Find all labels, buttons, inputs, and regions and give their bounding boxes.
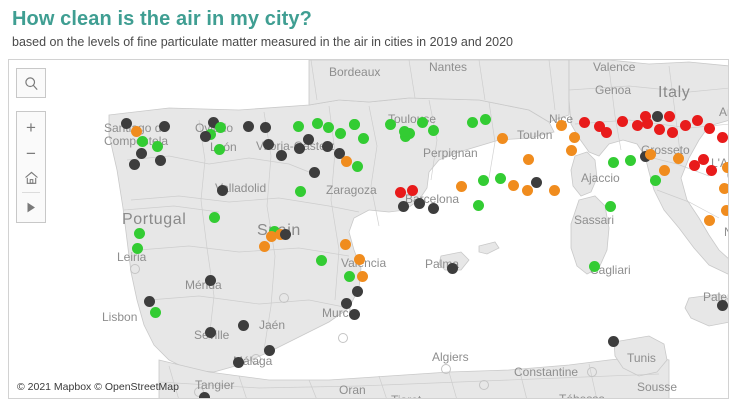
page-header: How clean is the air in my city? based o… [0,0,737,51]
map-data-point[interactable] [159,121,170,132]
map-data-point[interactable] [654,124,665,135]
zoom-in-button[interactable]: + [17,114,45,140]
map-data-point[interactable] [349,119,360,130]
map-data-point[interactable] [417,117,428,128]
map-data-point[interactable] [632,120,643,131]
map-data-point[interactable] [243,121,254,132]
map-data-point[interactable] [238,320,249,331]
map-data-point[interactable] [316,255,327,266]
map-data-point[interactable] [280,229,291,240]
map-data-point[interactable] [134,228,145,239]
map-data-point[interactable] [340,239,351,250]
map-data-point[interactable] [144,296,155,307]
map-data-point[interactable] [652,111,663,122]
map-data-point[interactable] [608,157,619,168]
map-data-point[interactable] [680,120,691,131]
map-data-point[interactable] [155,155,166,166]
map-data-point[interactable] [722,162,730,173]
map-data-point[interactable] [132,243,143,254]
map-data-point[interactable] [522,185,533,196]
map-city-marker [279,293,289,303]
page-title: How clean is the air in my city? [12,6,737,32]
map-data-point[interactable] [263,139,274,150]
map-data-point[interactable] [704,215,715,226]
map-data-point[interactable] [673,153,684,164]
map-data-point[interactable] [209,212,220,223]
map-data-point[interactable] [341,156,352,167]
map-data-point[interactable] [579,117,590,128]
map-data-point[interactable] [136,148,147,159]
map-data-point[interactable] [549,185,560,196]
map-data-point[interactable] [608,336,619,347]
map-data-point[interactable] [260,122,271,133]
home-icon [24,171,39,185]
map-data-point[interactable] [721,205,730,216]
map-search-button[interactable] [16,68,46,98]
map-data-point[interactable] [617,116,628,127]
map-data-point[interactable] [399,126,410,137]
map-data-point[interactable] [322,141,333,152]
map-data-point[interactable] [531,177,542,188]
map-data-point[interactable] [667,127,678,138]
map-data-point[interactable] [556,120,567,131]
map-data-point[interactable] [341,298,352,309]
map-data-point[interactable] [259,241,270,252]
map-data-point[interactable] [467,117,478,128]
map-data-point[interactable] [698,154,709,165]
map-data-point[interactable] [295,186,306,197]
map-data-point[interactable] [566,145,577,156]
map-data-point[interactable] [312,118,323,129]
map-data-point[interactable] [215,122,226,133]
map-canvas[interactable]: Santiago deCompostelaOviedoLeónVitoria-G… [9,60,728,398]
search-icon [24,76,39,91]
map-data-point[interactable] [625,155,636,166]
map-data-point[interactable] [601,127,612,138]
map-data-point[interactable] [358,133,369,144]
map-data-point[interactable] [150,307,161,318]
map-attribution[interactable]: © 2021 Mapbox © OpenStreetMap [17,381,179,393]
map-data-point[interactable] [293,121,304,132]
map-container[interactable]: Santiago deCompostelaOviedoLeónVitoria-G… [8,59,729,399]
map-data-point[interactable] [640,111,651,122]
map-data-point[interactable] [428,125,439,136]
map-data-point[interactable] [385,119,396,130]
play-arrow-icon [25,201,37,214]
map-data-point[interactable] [645,149,656,160]
map-data-point[interactable] [447,263,458,274]
map-controls-stack[interactable]: + − [16,111,46,223]
map-data-point[interactable] [480,114,491,125]
map-data-point[interactable] [214,144,225,155]
map-data-point[interactable] [129,159,140,170]
map-data-point[interactable] [569,132,580,143]
map-data-point[interactable] [349,309,360,320]
map-data-point[interactable] [589,261,600,272]
map-data-point[interactable] [200,131,211,142]
map-data-point[interactable] [717,132,728,143]
map-data-point[interactable] [508,180,519,191]
map-data-point[interactable] [199,392,210,400]
map-data-point[interactable] [456,181,467,192]
map-data-point[interactable] [357,271,368,282]
controls-divider [22,192,40,193]
map-data-point[interactable] [264,345,275,356]
map-data-point[interactable] [497,133,508,144]
map-data-point[interactable] [205,327,216,338]
map-data-point[interactable] [398,201,409,212]
map-data-point[interactable] [523,154,534,165]
map-data-point[interactable] [233,357,244,368]
map-data-point[interactable] [309,167,320,178]
map-data-point[interactable] [473,200,484,211]
map-data-point[interactable] [395,187,406,198]
map-data-point[interactable] [692,115,703,126]
basemap-landmass [9,60,729,399]
map-data-point[interactable] [495,173,506,184]
map-data-point[interactable] [706,165,717,176]
map-data-point[interactable] [704,123,715,134]
air-quality-map-page: How clean is the air in my city? based o… [0,0,737,407]
zoom-out-button[interactable]: − [17,140,45,166]
map-city-marker [441,364,451,374]
map-city-marker [130,264,140,274]
map-data-point[interactable] [137,136,148,147]
map-data-point[interactable] [352,286,363,297]
map-data-point[interactable] [323,122,334,133]
map-data-point[interactable] [650,175,661,186]
map-city-marker [479,380,489,390]
map-data-point[interactable] [217,185,228,196]
pan-button[interactable] [17,195,45,219]
map-data-point[interactable] [276,150,287,161]
map-data-point[interactable] [131,126,142,137]
home-button[interactable] [17,166,45,190]
map-data-point[interactable] [717,300,728,311]
map-data-point[interactable] [294,143,305,154]
map-data-point[interactable] [152,141,163,152]
map-data-point[interactable] [659,165,670,176]
map-data-point[interactable] [354,254,365,265]
map-data-point[interactable] [407,185,418,196]
map-data-point[interactable] [344,271,355,282]
page-subtitle: based on the levels of fine particulate … [12,34,737,51]
map-data-point[interactable] [664,111,675,122]
map-data-point[interactable] [605,201,616,212]
map-data-point[interactable] [205,275,216,286]
map-city-marker [587,367,597,377]
map-data-point[interactable] [428,203,439,214]
map-data-point[interactable] [478,175,489,186]
map-data-point[interactable] [335,128,346,139]
map-city-marker [251,354,261,364]
map-data-point[interactable] [414,198,425,209]
map-data-point[interactable] [719,183,730,194]
map-city-marker [338,333,348,343]
map-city-marker [609,398,619,399]
map-data-point[interactable] [121,118,132,129]
map-data-point[interactable] [266,231,277,242]
map-data-point[interactable] [303,134,314,145]
map-data-point[interactable] [352,161,363,172]
